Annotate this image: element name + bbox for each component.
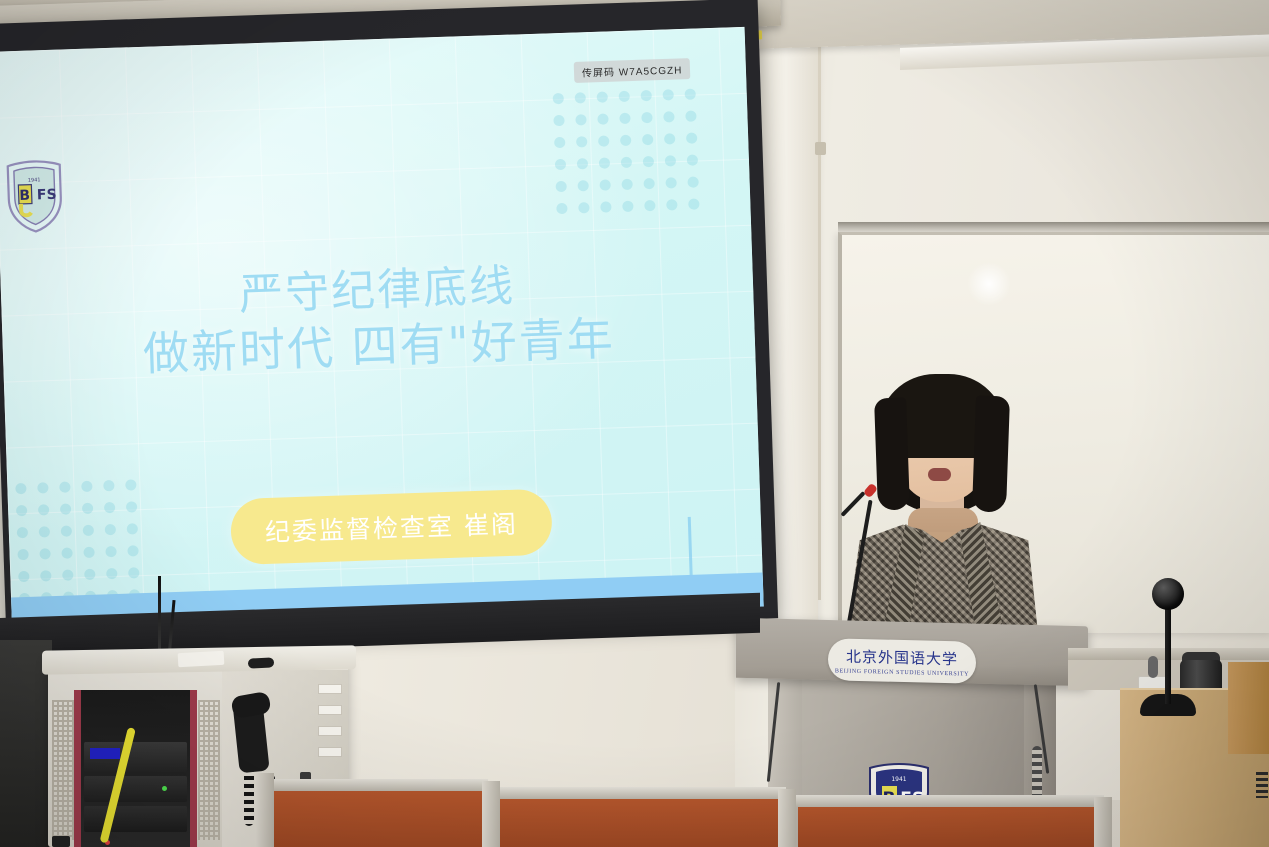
ball-microphone-icon[interactable]: [1152, 578, 1184, 610]
slide-dots-top-right: [553, 89, 700, 226]
rack-unit-switcher: [84, 806, 187, 832]
hanging-cable: [1256, 772, 1268, 798]
rack-label-strip: [318, 684, 340, 768]
desk-partition-2: [500, 797, 780, 847]
rack-unit-mixer: [84, 776, 187, 802]
speaker-hair-right: [972, 395, 1010, 512]
rack-rail-left: [74, 690, 81, 847]
podium-plaque-chinese: 北京外国语大学: [846, 645, 958, 669]
rack-label: [318, 684, 342, 694]
rack-paper-sheet: [178, 651, 225, 667]
projection-screen-surface[interactable]: 1941 B F S 严守纪律底线 做新时代 四有"好青年 纪委监督检查室 崔阁: [0, 27, 764, 632]
rack-vent-left: [52, 700, 74, 840]
whiteboard-glare: [966, 263, 1012, 305]
podium-plaque: 北京外国语大学 BEIJING FOREIGN STUDIES UNIVERSI…: [828, 638, 976, 684]
telephone-cord: [244, 768, 254, 826]
small-microphone-icon: [1148, 656, 1158, 678]
rack-label: [318, 705, 342, 715]
podium-plaque-english: BEIJING FOREIGN STUDIES UNIVERSITY: [835, 668, 969, 677]
desk-rail-1: [262, 779, 488, 791]
desk-rail-3: [792, 795, 1104, 807]
speaker-mouth: [928, 468, 951, 481]
screencast-code-label: 传屏码 W7A5CGZH: [574, 58, 691, 83]
wooden-chair: [1228, 662, 1269, 754]
rack-power-socket: [52, 836, 70, 847]
desk-post-2: [482, 781, 500, 847]
svg-text:S: S: [46, 187, 57, 203]
rack-label: [318, 747, 342, 757]
desk-rail-2: [494, 787, 786, 799]
projection-screen-frame: 1941 B F S 严守纪律底线 做新时代 四有"好青年 纪委监督检查室 崔阁: [0, 0, 778, 644]
lecture-hall-scene: 1941 B F S 严守纪律底线 做新时代 四有"好青年 纪委监督检查室 崔阁: [0, 0, 1269, 847]
svg-text:1941: 1941: [891, 776, 906, 783]
bfs-shield-logo-icon: 1941 B F S: [3, 157, 67, 235]
rack-remote-control[interactable]: [248, 657, 274, 668]
desk-partition-1: [268, 789, 482, 847]
svg-text:B: B: [19, 188, 30, 204]
desk-post-1: [256, 773, 274, 847]
slide-title-line1: 严守纪律底线: [238, 261, 516, 321]
svg-text:1941: 1941: [28, 177, 41, 183]
desk-partition-3: [798, 805, 1098, 847]
rack-antenna-1: [158, 576, 161, 658]
ball-microphone-stem: [1165, 606, 1171, 704]
cable-clip: [815, 142, 826, 155]
rack-label: [318, 726, 342, 736]
rack-led-green: [162, 786, 167, 791]
desk-post-3: [778, 789, 796, 847]
slide-presenter-badge: 纪委监督检查室 崔阁: [230, 489, 553, 566]
rack-vent-right: [198, 700, 220, 840]
rack-unit-display: [90, 748, 120, 759]
svg-text:F: F: [37, 187, 47, 203]
speaker-hair-left: [874, 397, 910, 510]
speaker-person: [820, 372, 1060, 640]
desk-post-4: [1094, 797, 1112, 847]
rack-rail-right: [190, 690, 197, 847]
